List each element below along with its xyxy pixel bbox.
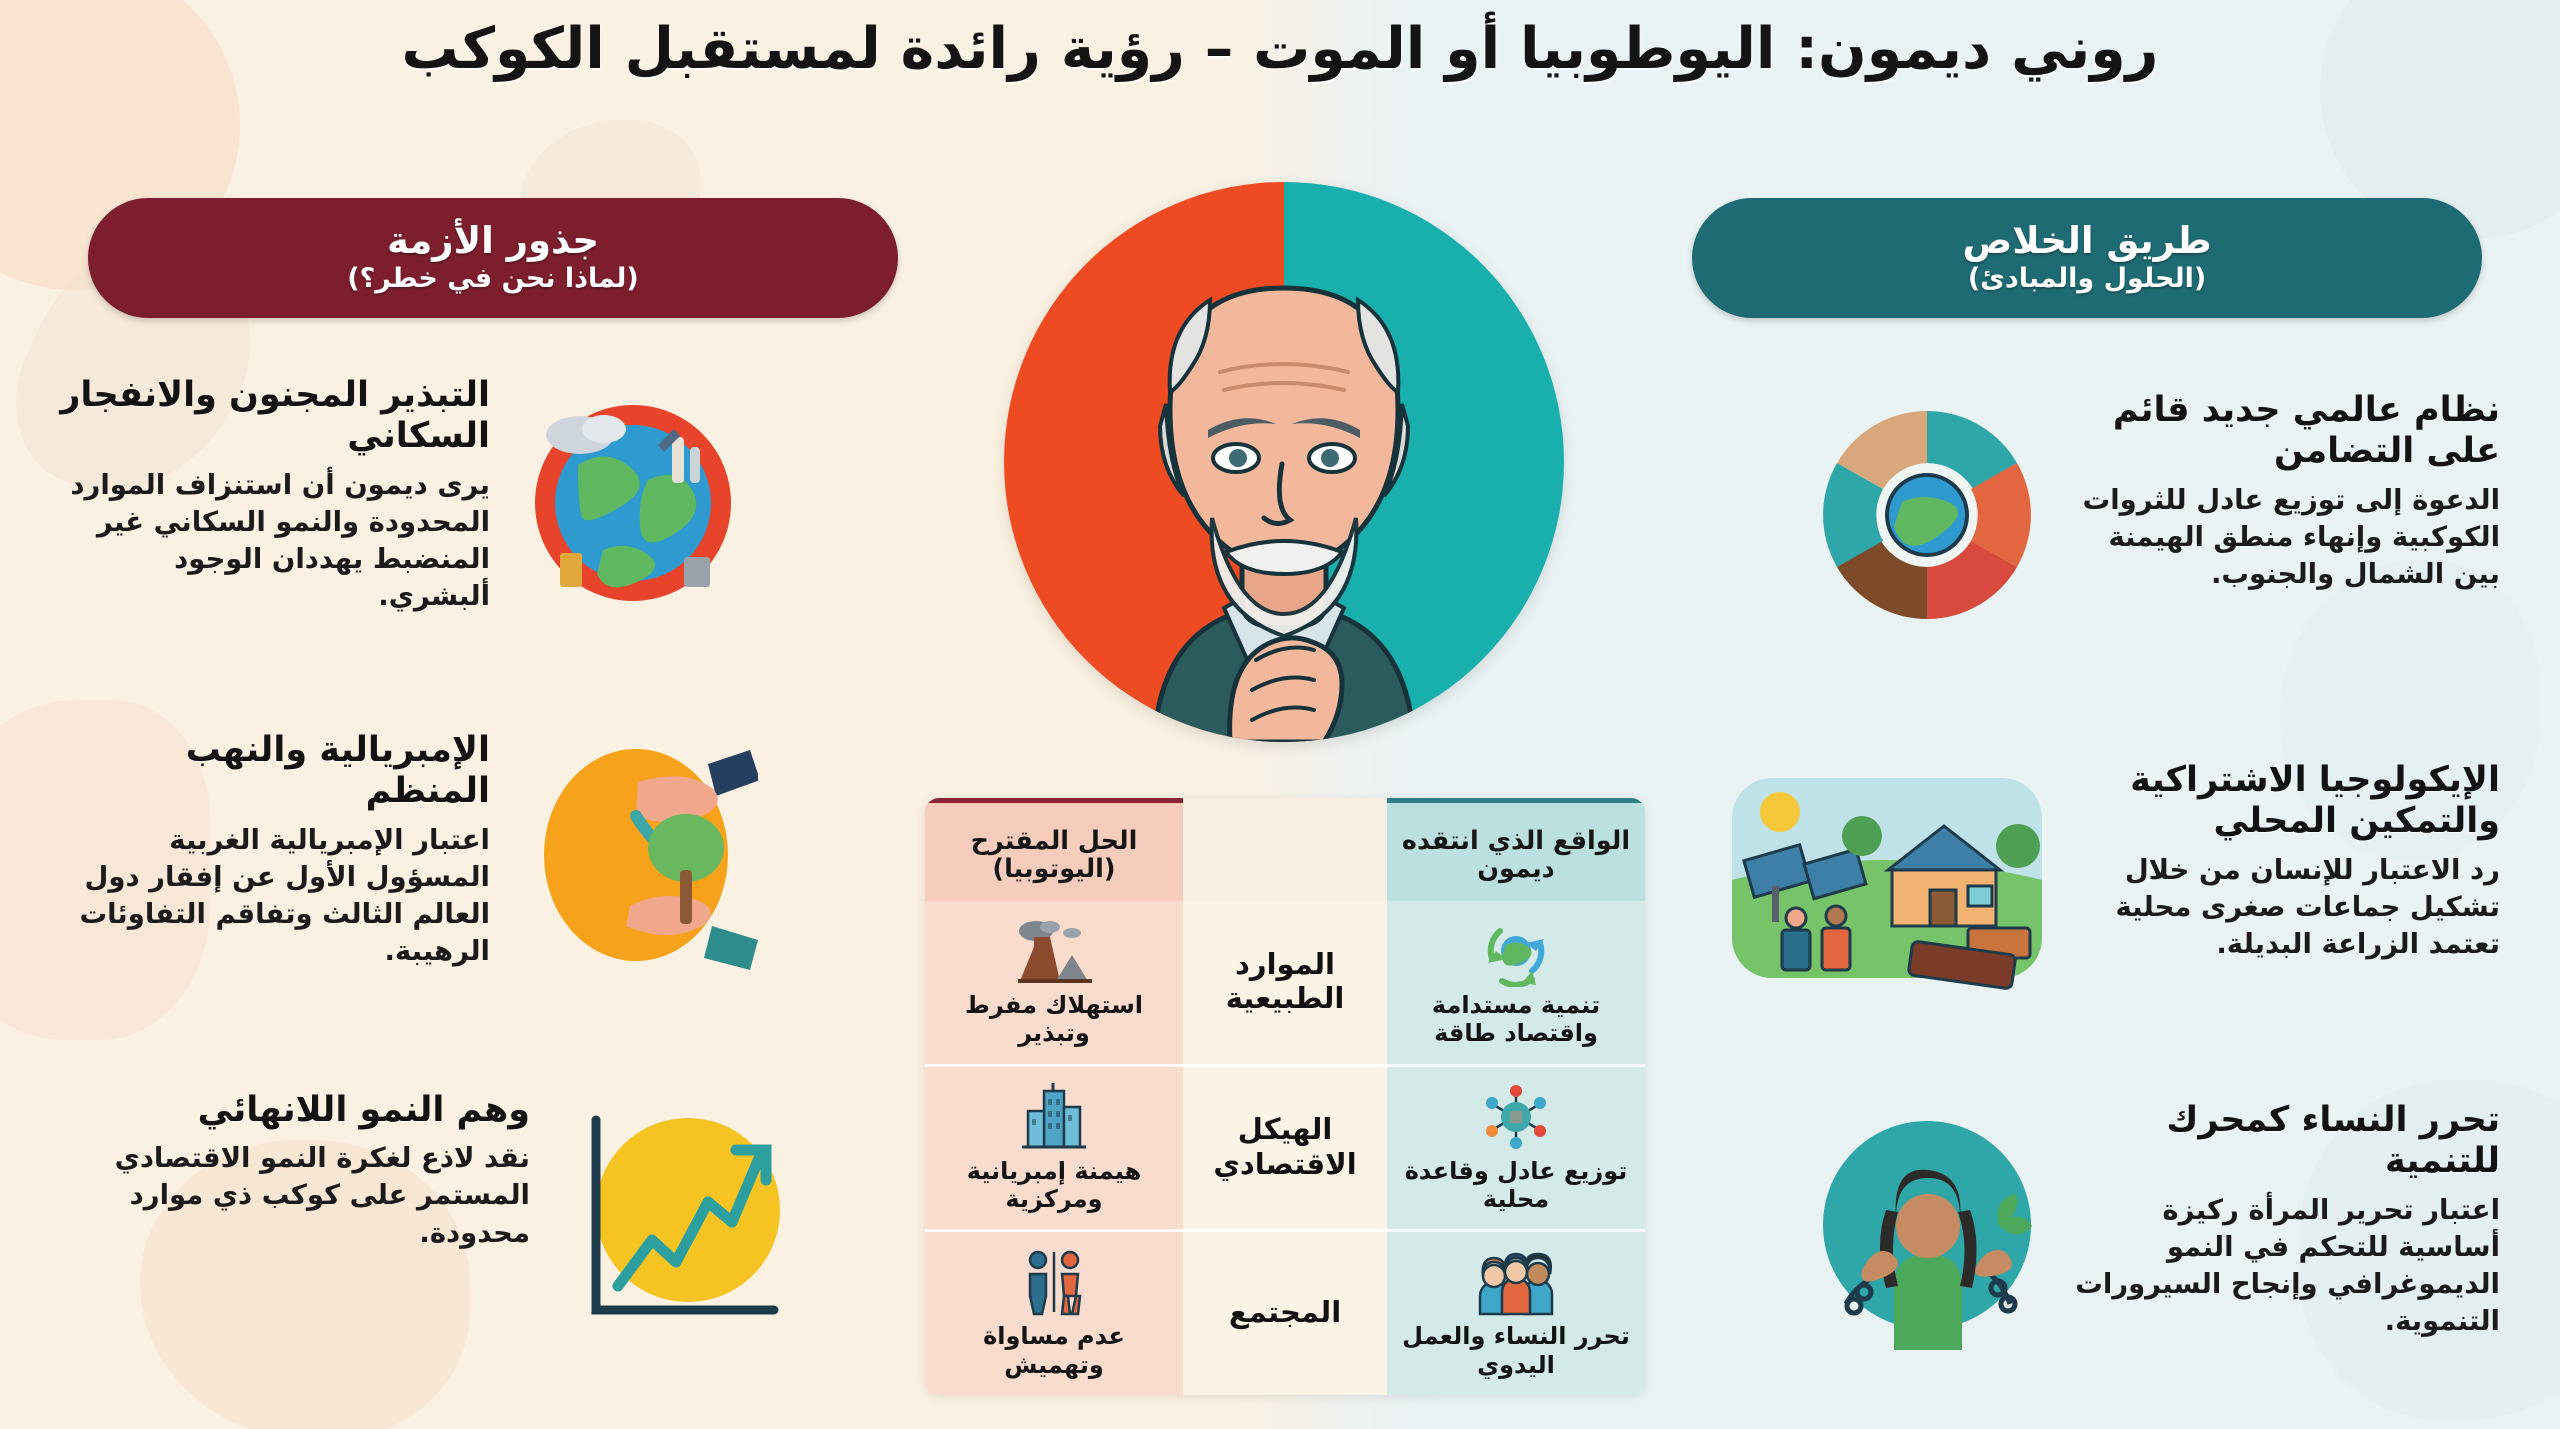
table-topic-label: الهيكل الاقتصادي <box>1191 1112 1379 1182</box>
comparison-table: الواقع الذي انتقده ديمون الحل المقترح (ا… <box>925 798 1645 1395</box>
table-cell-solution-label: عدم مساواة وتهميش <box>933 1322 1175 1379</box>
solution-badge-subtitle: (الحلول والمبادئ) <box>1968 263 2206 295</box>
avatar <box>1004 182 1564 742</box>
table-cell-topic: المجتمع <box>1183 1229 1387 1395</box>
table-header-row: الواقع الذي انتقده ديمون الحل المقترح (ا… <box>925 798 1645 901</box>
table-cell-real: توزيع عادل وقاعدة محلية <box>1387 1064 1645 1230</box>
table-row: تحرر النساء والعمل اليدوي المجتمع <box>925 1229 1645 1395</box>
crisis-badge-title: جذور الأزمة <box>387 221 599 261</box>
table-cell-real: تحرر النساء والعمل اليدوي <box>1387 1229 1645 1395</box>
woman-breaking-chains-icon <box>1802 1100 2052 1350</box>
table-header-solution: الحل المقترح (اليوتوبيا) <box>925 798 1183 901</box>
table-cell-real-label: توزيع عادل وقاعدة محلية <box>1395 1157 1637 1214</box>
table-topic-label: المجتمع <box>1229 1295 1341 1330</box>
table-header-topic <box>1183 798 1387 901</box>
page-title: روني ديمون: اليوطوبيا أو الموت – رؤية را… <box>0 16 2560 82</box>
polluting-factory-icon <box>1006 915 1102 987</box>
table-row: توزيع عادل وقاعدة محلية الهيكل الاقتصادي <box>925 1064 1645 1230</box>
recycling-earth-icon <box>1468 915 1564 987</box>
solution-item-2-body: رد الاعتبار للإنسان من خلال تشكيل جماعات… <box>2070 852 2500 963</box>
solution-item-1: نظام عالمي جديد قائم على التضامن الدعوة … <box>1802 390 2500 640</box>
skyscraper-icon <box>1006 1081 1102 1153</box>
table-body: تنمية مستدامة واقتصاد طاقة الموارد الطبي… <box>925 901 1645 1395</box>
infographic-poster: روني ديمون: اليوطوبيا أو الموت – رؤية را… <box>0 0 2560 1429</box>
crisis-item-1-heading: التبذير المجنون والانفجار السكاني <box>60 375 490 458</box>
solution-item-3-body: اعتبار تحرير المرأة ركيزة أساسية للتحكم … <box>2070 1192 2500 1341</box>
table-cell-topic: الموارد الطبيعية <box>1183 901 1387 1064</box>
crisis-item-3-body: نقد لاذع لغكرة النمو الاقتصادي المستمر ع… <box>100 1140 530 1251</box>
table-cell-solution: هيمنة إمبريانية ومركزية <box>925 1064 1183 1230</box>
table-cell-real-label: تحرر النساء والعمل اليدوي <box>1395 1322 1637 1379</box>
portrait-illustration <box>1004 182 1564 742</box>
solution-item-1-heading: نظام عالمي جديد قائم على التضامن <box>2070 390 2500 473</box>
solution-item-3-heading: تحرر النساء كمحرك للتنمية <box>2070 1100 2500 1183</box>
crisis-item-1-body: يرى ديمون أن استنزاف الموارد المحدودة وا… <box>60 467 490 616</box>
crisis-badge-subtitle: (لماذا نحن في خطر؟) <box>347 263 638 295</box>
table-cell-real-label: تنمية مستدامة واقتصاد طاقة <box>1395 991 1637 1048</box>
table-cell-solution: استهلاك مفرط وتبذير <box>925 901 1183 1064</box>
table-row: تنمية مستدامة واقتصاد طاقة الموارد الطبي… <box>925 901 1645 1064</box>
table-cell-topic: الهيكل الاقتصادي <box>1183 1064 1387 1230</box>
crisis-item-2: الإمبريالية والنهب المنظم اعتبار الإمبري… <box>60 730 758 980</box>
three-women-icon <box>1468 1246 1564 1318</box>
crisis-item-1: التبذير المجنون والانفجار السكاني يرى دي… <box>60 375 758 625</box>
eco-village-icon <box>1722 760 2052 1010</box>
network-globe-icon <box>1468 1081 1564 1153</box>
solution-section-badge: طريق الخلاص (الحلول والمبادئ) <box>1692 198 2482 318</box>
crisis-item-2-heading: الإمبريالية والنهب المنظم <box>60 730 490 813</box>
table-cell-solution-label: استهلاك مفرط وتبذير <box>933 991 1175 1048</box>
polluted-earth-icon <box>508 375 758 625</box>
crisis-section-badge: جذور الأزمة (لماذا نحن في خطر؟) <box>88 198 898 318</box>
growth-chart-icon <box>548 1090 798 1340</box>
solution-item-1-body: الدعوة إلى توزيع عادل للثروات الكوكبية و… <box>2070 482 2500 593</box>
crisis-item-3: وهم النمو اللانهائي نقد لاذع لغكرة النمو… <box>100 1090 798 1340</box>
table-header-real: الواقع الذي انتقده ديمون <box>1387 798 1645 901</box>
crisis-item-3-heading: وهم النمو اللانهائي <box>100 1090 530 1131</box>
table-cell-real: تنمية مستدامة واقتصاد طاقة <box>1387 901 1645 1064</box>
table-topic-label: الموارد الطبيعية <box>1191 947 1379 1017</box>
gender-inequality-icon <box>1006 1246 1102 1318</box>
table-cell-solution: عدم مساواة وتهميش <box>925 1229 1183 1395</box>
hands-around-globe-icon <box>1802 390 2052 640</box>
hands-taking-tree-icon <box>508 730 758 980</box>
solution-badge-title: طريق الخلاص <box>1962 221 2211 261</box>
solution-item-2-heading: الإيكولوجيا الاشتراكية والتمكين المحلي <box>2070 760 2500 843</box>
crisis-item-2-body: اعتبار الإمبريالية الغربية المسؤول الأول… <box>60 822 490 971</box>
solution-item-2: الإيكولوجيا الاشتراكية والتمكين المحلي ر… <box>1722 760 2500 1010</box>
solution-item-3: تحرر النساء كمحرك للتنمية اعتبار تحرير ا… <box>1802 1100 2500 1350</box>
table-cell-solution-label: هيمنة إمبريانية ومركزية <box>933 1157 1175 1214</box>
